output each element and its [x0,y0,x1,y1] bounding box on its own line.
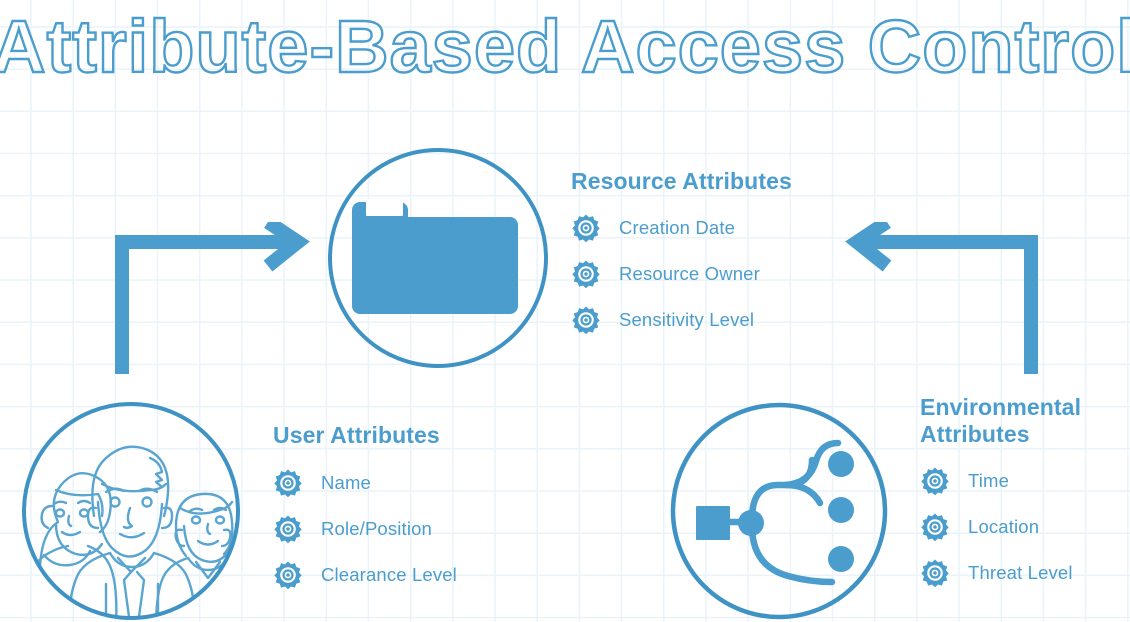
list-item: Creation Date [571,205,901,251]
resource-attributes-section: Resource Attributes Creation Date [571,168,901,343]
list-item-label: Time [968,470,1009,492]
gear-icon [920,558,950,588]
gear-icon [571,213,601,243]
list-item: Threat Level [920,550,1130,596]
gear-icon [920,512,950,542]
gear-icon [920,466,950,496]
list-item-label: Threat Level [968,562,1073,584]
network-branch-icon [666,398,892,622]
environmental-attributes-heading: Environmental Attributes [920,394,1130,447]
list-item: Name [273,460,573,506]
list-item: Clearance Level [273,552,573,598]
people-group-icon [18,398,248,622]
environmental-attributes-list: Time Location [920,458,1130,596]
list-item: Time [920,458,1130,504]
gear-icon [273,560,303,590]
list-item-label: Name [321,472,371,494]
page-title-text: Attribute-Based Access Control [0,8,1130,88]
gear-icon [273,514,303,544]
list-item-label: Creation Date [619,217,735,239]
arrow-up-right-icon [108,222,318,382]
list-item-label: Sensitivity Level [619,309,754,331]
user-attributes-list: Name Role/Position [273,460,573,598]
list-item-label: Role/Position [321,518,432,540]
gear-icon [571,305,601,335]
user-attributes-heading: User Attributes [273,422,573,449]
list-item-label: Location [968,516,1039,538]
infographic-canvas: Attribute-Based Access Control Resource … [0,0,1130,622]
list-item: Role/Position [273,506,573,552]
resource-attributes-heading: Resource Attributes [571,168,901,195]
list-item-label: Resource Owner [619,263,760,285]
list-item: Sensitivity Level [571,297,901,343]
list-item-label: Clearance Level [321,564,457,586]
list-item: Location [920,504,1130,550]
page-title: Attribute-Based Access Control [0,8,1130,92]
folder-icon [326,146,550,370]
gear-icon [571,259,601,289]
list-item: Resource Owner [571,251,901,297]
user-attributes-section: User Attributes Name [273,422,573,598]
resource-attributes-list: Creation Date Resource Owner [571,205,901,343]
environmental-attributes-section: Environmental Attributes Time [920,394,1130,596]
gear-icon [273,468,303,498]
